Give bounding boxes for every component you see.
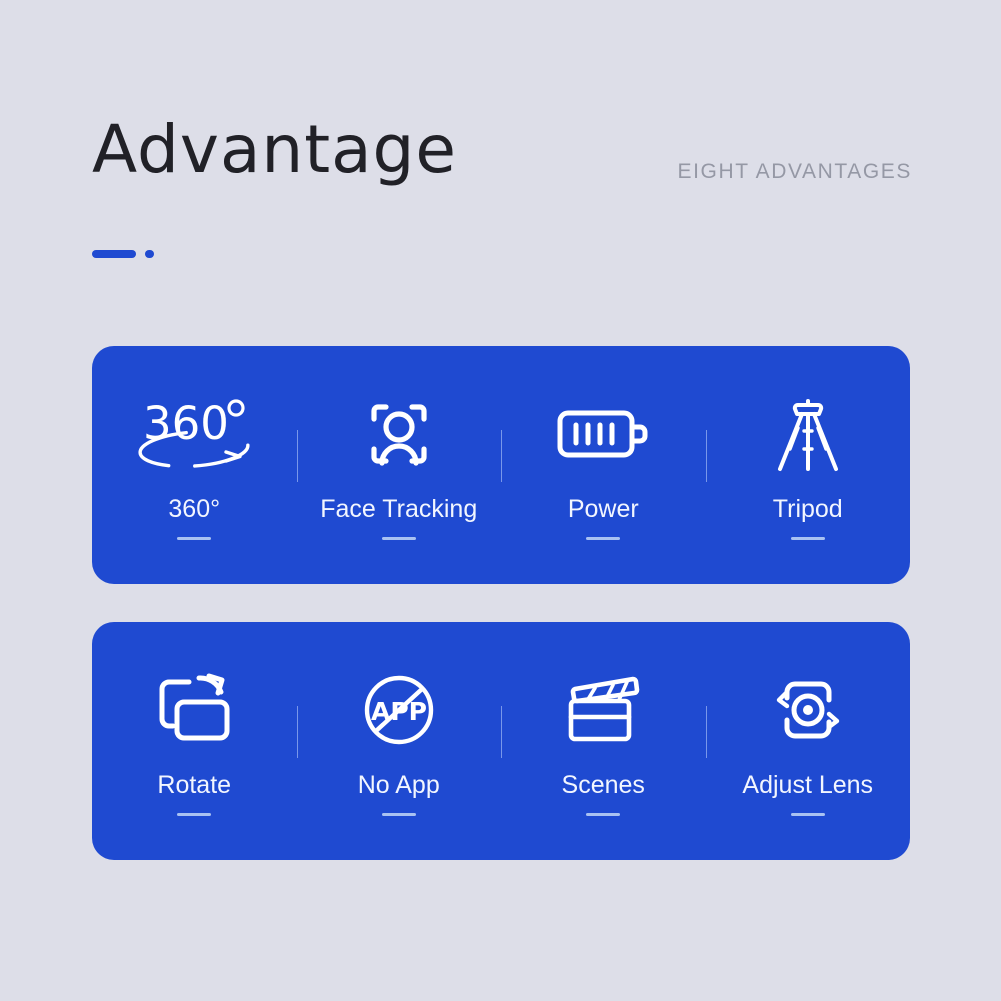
label-underline — [382, 813, 416, 816]
feature-label: Rotate — [157, 770, 231, 800]
clapperboard-icon — [557, 662, 649, 758]
feature-cell-power[interactable]: Power — [501, 346, 706, 584]
feature-label: Face Tracking — [320, 494, 477, 524]
feature-label: Adjust Lens — [742, 770, 873, 800]
tripod-icon — [768, 386, 848, 482]
face-tracking-icon — [358, 386, 440, 482]
feature-label: No App — [358, 770, 440, 800]
rotation-360-icon: 360 — [130, 386, 258, 482]
feature-label: Tripod — [773, 494, 843, 524]
feature-cell-face-tracking[interactable]: Face Tracking — [297, 346, 502, 584]
feature-cell-rotate[interactable]: Rotate — [92, 622, 297, 860]
feature-label: 360° — [168, 494, 220, 524]
feature-cell-scenes[interactable]: Scenes — [501, 622, 706, 860]
accent-dot — [145, 250, 154, 258]
label-underline — [586, 537, 620, 540]
label-underline — [177, 537, 211, 540]
advantages-row-2: Rotate APP No App — [92, 622, 910, 860]
label-underline — [382, 537, 416, 540]
feature-cell-tripod[interactable]: Tripod — [706, 346, 911, 584]
advantages-row-1: 360 360° Fa — [92, 346, 910, 584]
feature-cell-adjust-lens[interactable]: Adjust Lens — [706, 622, 911, 860]
svg-text:360: 360 — [143, 397, 229, 450]
label-underline — [791, 813, 825, 816]
feature-cell-no-app[interactable]: APP No App — [297, 622, 502, 860]
label-underline — [791, 537, 825, 540]
no-app-icon: APP — [359, 662, 439, 758]
page-header: Advantage EIGHT ADVANTAGES — [92, 112, 912, 202]
label-underline — [177, 813, 211, 816]
accent-bar — [92, 250, 136, 258]
advantage-feature-page: Advantage EIGHT ADVANTAGES 360 360° — [0, 0, 1001, 1001]
accent-rule — [92, 250, 154, 258]
rotate-screen-icon — [151, 662, 237, 758]
feature-label: Power — [568, 494, 639, 524]
page-title: Advantage — [92, 112, 457, 188]
adjust-lens-icon — [765, 662, 851, 758]
feature-label: Scenes — [562, 770, 645, 800]
page-subtitle: EIGHT ADVANTAGES — [678, 160, 912, 184]
feature-cell-360[interactable]: 360 360° — [92, 346, 297, 584]
label-underline — [586, 813, 620, 816]
battery-icon — [554, 386, 652, 482]
